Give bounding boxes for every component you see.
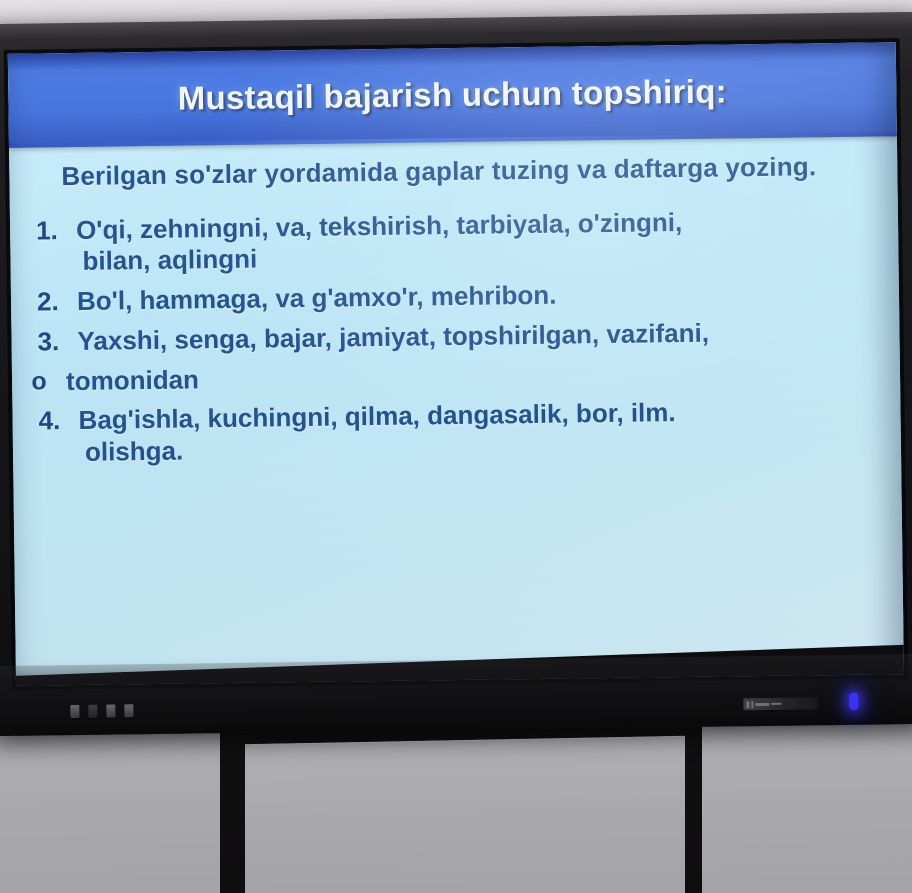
task-line-main: O'qi, zehningni, va, tekshirish, tarbiya… <box>76 207 682 245</box>
whiteboard-panel-right <box>702 720 912 893</box>
task-text: Bo'l, hammaga, va g'amxo'r, mehribon. <box>77 276 871 318</box>
task-number: 3. <box>37 326 77 358</box>
screen-recess: Mustaqil bajarish uchun topshiriq: Beril… <box>4 38 908 690</box>
bezel-button-4[interactable] <box>124 704 133 717</box>
classroom-photo-scene: Mustaqil bajarish uchun topshiriq: Beril… <box>0 0 912 893</box>
display-monitor: Mustaqil bajarish uchun topshiriq: Beril… <box>0 12 912 736</box>
logo-mark-2 <box>751 701 753 708</box>
bezel-button-2[interactable] <box>88 705 97 718</box>
task-list: 1. O'qi, zehningni, va, tekshirish, tarb… <box>36 204 873 469</box>
task-text: Yaxshi, senga, bajar, jamiyat, topshiril… <box>77 315 871 357</box>
task-item: 1. O'qi, zehningni, va, tekshirish, tarb… <box>36 204 871 278</box>
bezel-button-cluster[interactable] <box>70 704 133 718</box>
task-item: 4. Bag'ishla, kuchingni, qilma, dangasal… <box>38 395 873 469</box>
orphan-text: tomonidan <box>66 364 199 397</box>
task-number: 2. <box>37 286 77 318</box>
slide-title: Mustaqil bajarish uchun topshiriq: <box>177 72 727 117</box>
bezel-button-3[interactable] <box>106 704 115 717</box>
slide-header-bar: Mustaqil bajarish uchun topshiriq: <box>8 42 897 148</box>
whiteboard-panel-left <box>0 726 220 893</box>
slide-body: Berilgan so'zlar yordamida gaplar tuzing… <box>9 136 904 686</box>
whiteboard-panel-center <box>245 736 685 893</box>
task-line-main: Bag'ishla, kuchingni, qilma, dangasalik,… <box>78 397 675 435</box>
orphan-bullet-row: o tomonidan <box>12 355 872 398</box>
task-item: 2. Bo'l, hammaga, va g'amxo'r, mehribon. <box>37 276 871 319</box>
bezel-bottom-highlight <box>0 654 912 736</box>
brand-logo-plate <box>743 697 818 710</box>
logo-mark-4 <box>771 703 781 705</box>
circle-bullet-icon: o <box>12 366 66 397</box>
presentation-slide: Mustaqil bajarish uchun topshiriq: Beril… <box>8 42 904 686</box>
task-number: 4. <box>38 405 78 437</box>
logo-mark-3 <box>755 702 769 705</box>
logo-mark-1 <box>746 701 749 708</box>
bezel-button-1[interactable] <box>70 705 79 718</box>
task-text: O'qi, zehningni, va, tekshirish, tarbiya… <box>76 204 871 278</box>
power-led-indicator <box>849 693 858 710</box>
slide-intro-text: Berilgan so'zlar yordamida gaplar tuzing… <box>35 151 869 194</box>
task-number: 1. <box>36 215 76 247</box>
task-item: 3. Yaxshi, senga, bajar, jamiyat, topshi… <box>37 315 871 358</box>
task-text: Bag'ishla, kuchingni, qilma, dangasalik,… <box>78 395 873 469</box>
lcd-screen[interactable]: Mustaqil bajarish uchun topshiriq: Beril… <box>8 42 904 686</box>
